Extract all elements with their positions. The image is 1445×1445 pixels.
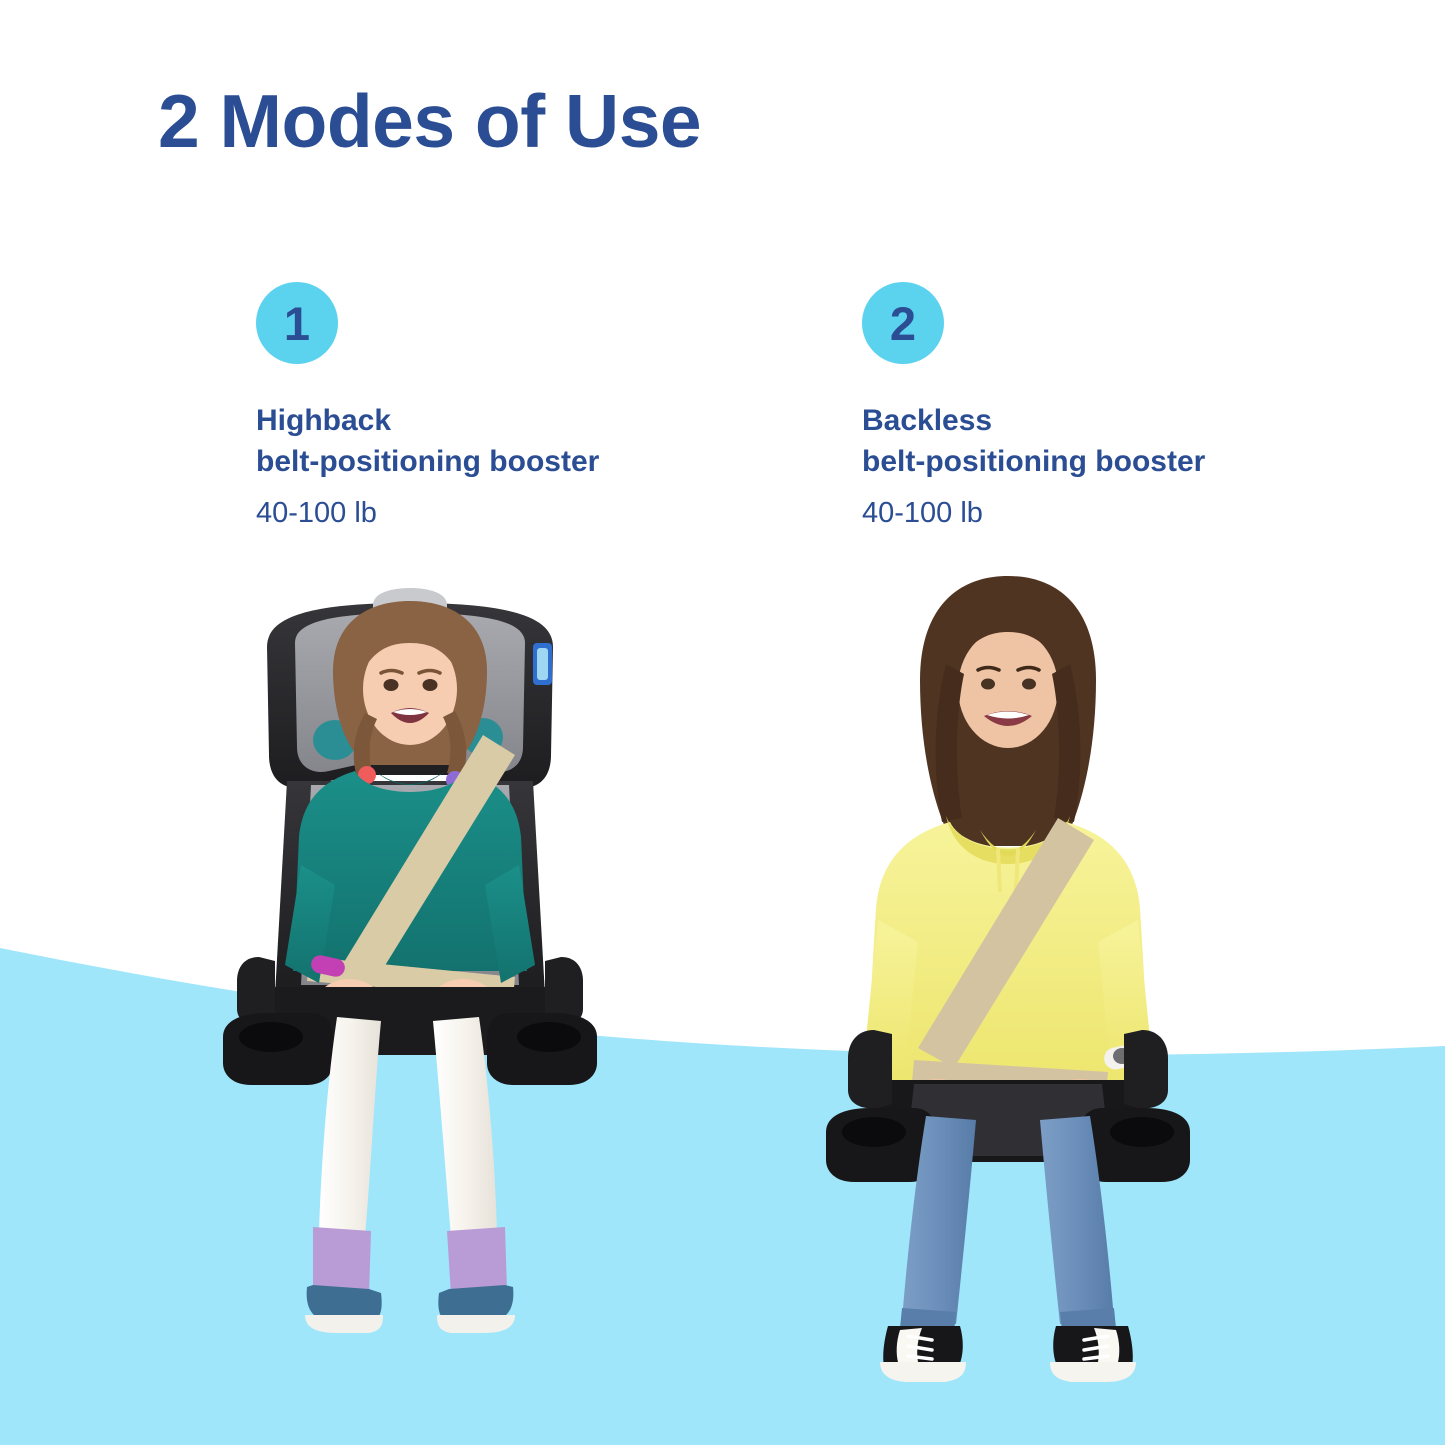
highback-booster-photo [215,585,605,1345]
mode-badge-2-number: 2 [890,300,916,347]
page-title: 2 Modes of Use [158,84,701,159]
child-boot-left-rubber [305,1315,383,1333]
cupholder-right-well [1110,1117,1174,1147]
mode-2-title-line1: Backless [862,400,1382,441]
teen-shoe-right-sole [1050,1362,1136,1382]
mode-badge-1: 1 [256,282,338,364]
cupholder-right-well [517,1022,581,1052]
mode-column-backless: 2 Backless belt-positioning booster 40-1… [862,282,1382,531]
mode-1-weight-range: 40-100 lb [256,496,776,531]
teen-face [958,628,1058,748]
teen-shoe-left-sole [880,1362,966,1382]
child-eye-left [384,679,399,691]
mode-badge-2: 2 [862,282,944,364]
cupholder-left-well [239,1022,303,1052]
mode-badge-1-number: 1 [284,300,310,347]
cupholder-left-well [842,1117,906,1147]
booster-armrest-right [1124,1030,1168,1108]
mode-2-weight-range: 40-100 lb [862,496,1382,531]
booster-armrest-left [848,1030,892,1108]
child-eye-right [423,679,438,691]
mode-2-title-line2: belt-positioning booster [862,441,1382,482]
child-boot-right-upper [447,1227,507,1295]
teen-eye-left [981,679,995,690]
mode-column-highback: 1 Highback belt-positioning booster 40-1… [256,282,776,531]
teen-eye-right [1022,679,1036,690]
brand-tag-inner [537,648,548,680]
mode-1-title-line1: Highback [256,400,776,441]
teen-hoodie-drawstring-right [1016,850,1018,890]
mode-1-title-line2: belt-positioning booster [256,441,776,482]
child-boot-left-upper [313,1227,371,1295]
mode-1-title: Highback belt-positioning booster [256,400,776,483]
child-boot-right-rubber [437,1315,515,1333]
teen-hoodie-drawstring-left [998,850,1000,890]
backless-booster-photo [822,560,1194,1390]
mode-2-title: Backless belt-positioning booster [862,400,1382,483]
